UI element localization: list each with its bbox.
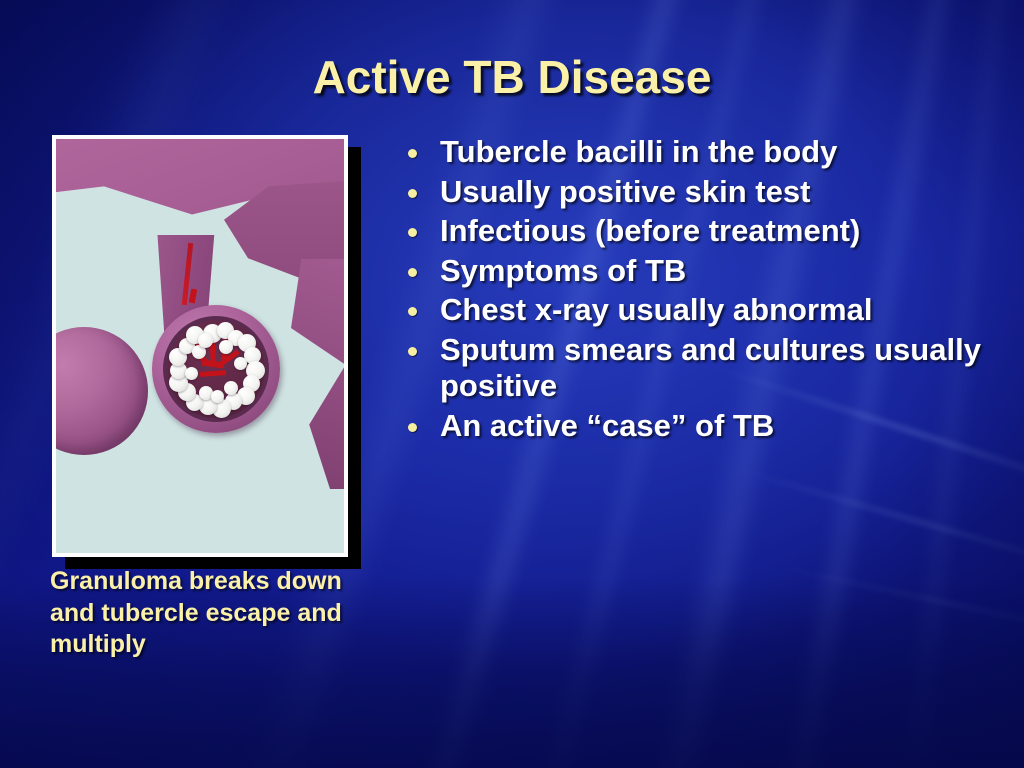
bullet-dot-icon — [408, 189, 417, 198]
illustration-caption: Granuloma breaks down and tubercle escap… — [50, 566, 390, 661]
bullet-list: Tubercle bacilli in the bodyUsually posi… — [408, 134, 994, 448]
bullet-dot-icon — [408, 268, 417, 277]
tubercle-bacillus — [185, 367, 198, 380]
slide-title: Active TB Disease — [0, 50, 1024, 104]
bullet-text: Usually positive skin test — [440, 174, 810, 211]
bullet-item: Usually positive skin test — [408, 174, 994, 211]
tubercle-bacillus — [224, 381, 238, 395]
escape-arrow-head — [200, 370, 226, 377]
bullet-text: Chest x-ray usually abnormal — [440, 292, 872, 329]
bullet-item: Symptoms of TB — [408, 253, 994, 290]
illustration-frame — [52, 135, 348, 557]
tubercle-bacillus — [219, 340, 233, 354]
bullet-text: Sputum smears and cultures usually posit… — [440, 332, 994, 405]
bullet-item: Chest x-ray usually abnormal — [408, 292, 994, 329]
bullet-dot-icon — [408, 149, 417, 158]
alveolus-sphere-left — [56, 327, 148, 455]
bullet-text: Symptoms of TB — [440, 253, 686, 290]
bullet-dot-icon — [408, 228, 417, 237]
bullet-dot-icon — [408, 423, 417, 432]
bullet-text: Tubercle bacilli in the body — [440, 134, 837, 171]
bullet-item: An active “case” of TB — [408, 408, 994, 445]
bullet-dot-icon — [408, 307, 417, 316]
light-ray — [727, 465, 1024, 579]
bullet-text: Infectious (before treatment) — [440, 213, 860, 250]
granuloma-breakdown-illustration — [56, 139, 344, 553]
bullet-item: Sputum smears and cultures usually posit… — [408, 332, 994, 405]
bullet-item: Infectious (before treatment) — [408, 213, 994, 250]
light-ray — [764, 563, 1024, 641]
bullet-text: An active “case” of TB — [440, 408, 774, 445]
bullet-item: Tubercle bacilli in the body — [408, 134, 994, 171]
bullet-dot-icon — [408, 347, 417, 356]
slide-canvas: Active TB Disease Gran — [0, 0, 1024, 768]
